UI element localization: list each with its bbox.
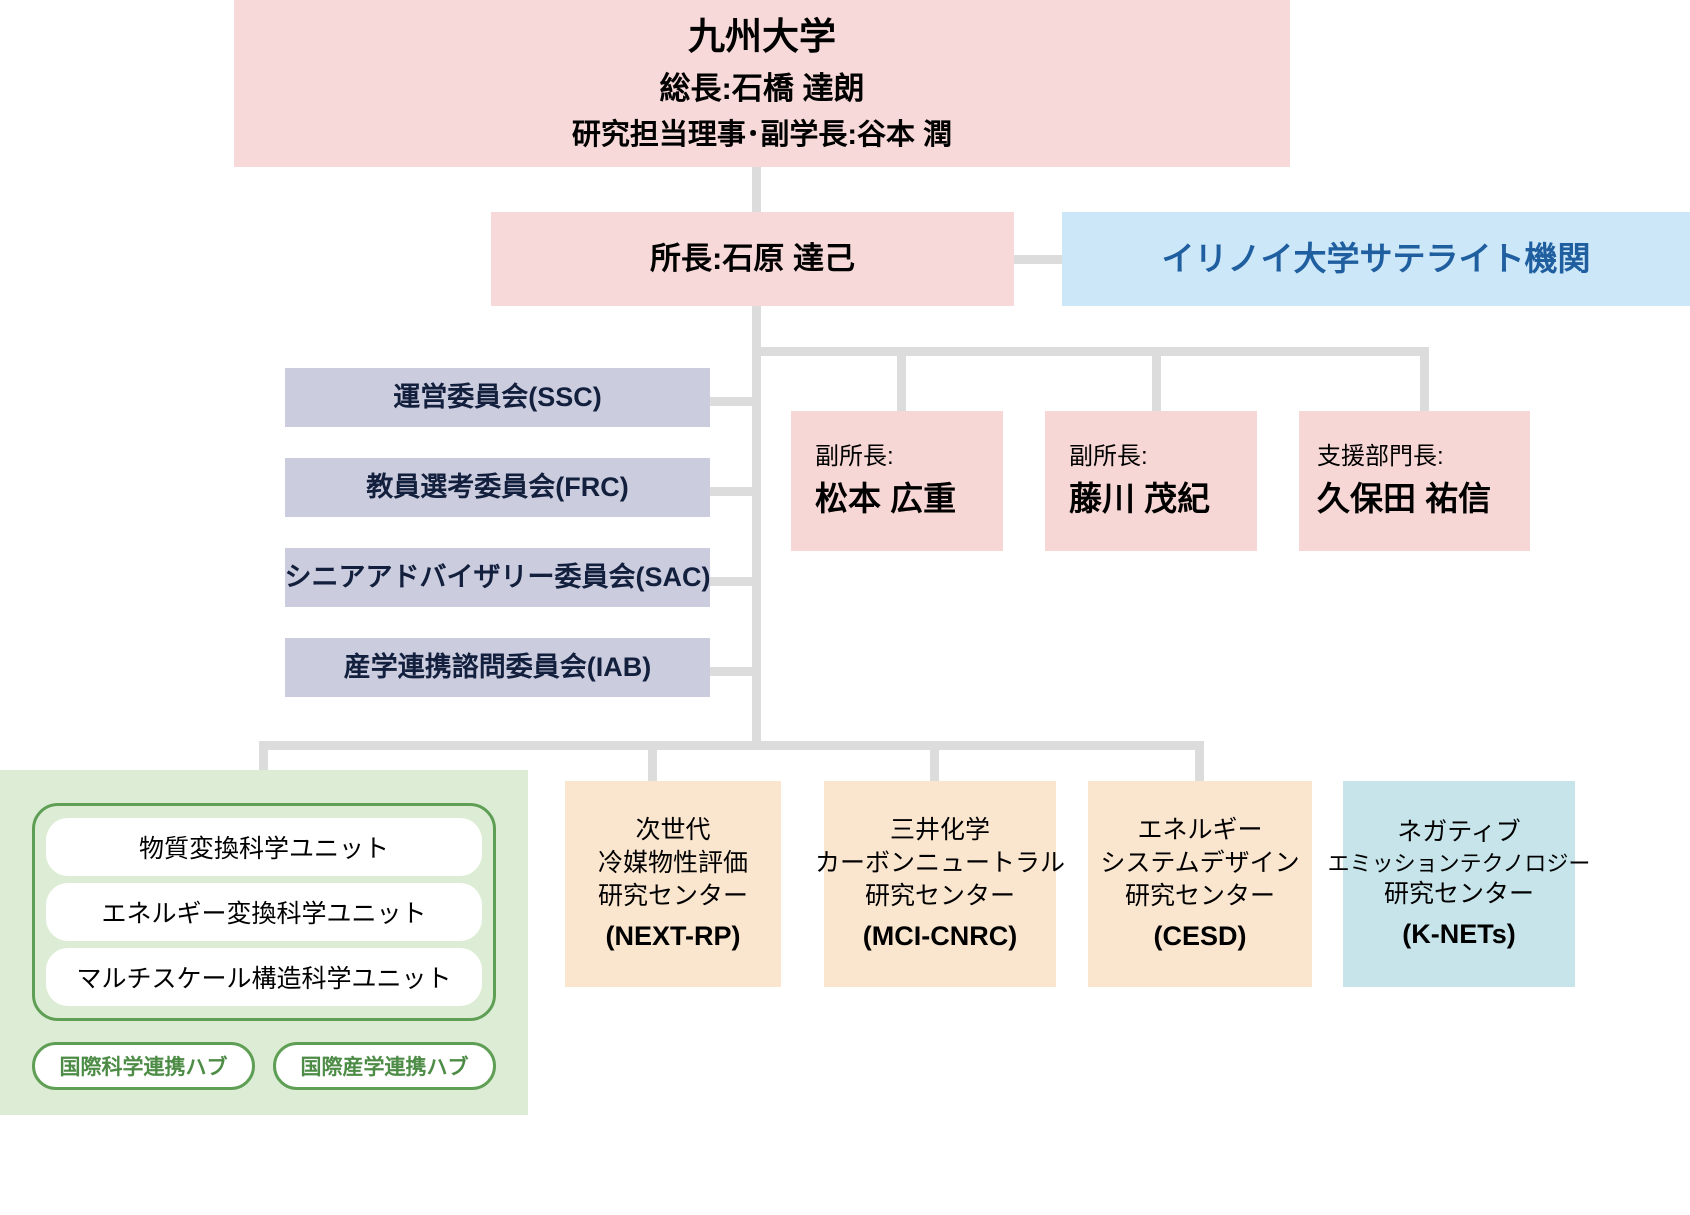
hub-pill-industry[interactable]: 国際産学連携ハブ [273,1042,496,1090]
org-chart: 九州大学 総長:石橋 達朗 研究担当理事･副学長:谷本 潤 所長:石原 達己 イ… [0,0,1690,1215]
connector-bottom-bus [259,741,1204,750]
center-1-line1: 次世代 [635,814,710,847]
center-3-line1: エネルギー [1137,814,1262,847]
officer-box-3[interactable]: 支援部門長: 久保田 祐信 [1299,411,1530,551]
connector-university-director [752,167,761,212]
research-center-next-rp[interactable]: 次世代 冷媒物性評価 研究センター (NEXT-RP) [565,781,781,987]
center-2-line1: 三井化学 [890,814,990,847]
center-3-line3: 研究センター [1125,880,1275,913]
committee-sac-label: シニアアドバイザリー委員会(SAC) [285,560,711,596]
center-4-line1: ネガティブ [1397,816,1521,849]
center-1-line3: 研究センター [598,880,748,913]
committee-sac[interactable]: シニアアドバイザリー委員会(SAC) [285,548,710,607]
university-box[interactable]: 九州大学 総長:石橋 達朗 研究担当理事･副学長:谷本 潤 [234,0,1290,167]
officer-3-role: 支援部門長: [1317,441,1444,473]
connector-officer-2 [1152,347,1161,412]
connector-officer-3 [1420,347,1429,412]
connector-committee-iab [710,667,756,676]
committee-ssc[interactable]: 運営委員会(SSC) [285,368,710,427]
officer-box-1[interactable]: 副所長: 松本 広重 [791,411,1003,551]
unit-pill-3[interactable]: マルチスケール構造科学ユニット [46,948,482,1006]
connector-officers-bus [757,347,1429,356]
committee-iab[interactable]: 産学連携諮問委員会(IAB) [285,638,710,697]
satellite-box[interactable]: イリノイ大学サテライト機関 [1062,212,1690,306]
connector-center-2 [930,741,939,781]
officer-2-name: 藤川 茂紀 [1069,477,1210,521]
officer-2-role: 副所長: [1069,441,1148,473]
connector-director-satellite [1014,255,1062,264]
center-4-line2: エミッションテクノロジー [1328,849,1591,878]
hub-2-label: 国際産学連携ハブ [301,1051,469,1081]
unit-2-label: エネルギー変換科学ユニット [101,894,426,930]
research-center-cesd[interactable]: エネルギー システムデザイン 研究センター (CESD) [1088,781,1312,987]
center-2-acronym: (MCI-CNRC) [863,919,1017,955]
center-3-line2: システムデザイン [1100,847,1299,880]
center-2-line3: 研究センター [865,880,1015,913]
unit-pill-1[interactable]: 物質変換科学ユニット [46,818,482,876]
officer-box-2[interactable]: 副所長: 藤川 茂紀 [1045,411,1257,551]
director-box[interactable]: 所長:石原 達己 [491,212,1014,306]
officer-1-role: 副所長: [815,441,894,473]
connector-center-1 [648,741,657,781]
university-vice-president: 研究担当理事･副学長:谷本 潤 [572,116,952,154]
university-name: 九州大学 [688,13,836,62]
connector-center-3 [1195,741,1204,781]
center-4-line3: 研究センター [1384,878,1534,911]
unit-3-label: マルチスケール構造科学ユニット [76,959,451,995]
center-3-acronym: (CESD) [1154,919,1247,955]
university-president: 総長:石橋 達朗 [660,69,865,110]
connector-committee-sac [710,577,756,586]
director-label: 所長:石原 達己 [650,239,855,280]
committee-frc-label: 教員選考委員会(FRC) [366,470,628,506]
connector-committee-ssc [710,397,756,406]
connector-committee-frc [710,487,756,496]
center-1-acronym: (NEXT-RP) [606,919,741,955]
officer-1-name: 松本 広重 [815,477,956,521]
center-1-line2: 冷媒物性評価 [598,847,748,880]
connector-director-trunk [752,306,761,746]
hub-1-label: 国際科学連携ハブ [60,1051,228,1081]
hub-pill-science[interactable]: 国際科学連携ハブ [32,1042,255,1090]
satellite-label: イリノイ大学サテライト機関 [1162,237,1591,281]
connector-officer-1 [897,347,906,412]
research-center-mci-cnrc[interactable]: 三井化学 カーボンニュートラル 研究センター (MCI-CNRC) [824,781,1056,987]
committee-iab-label: 産学連携諮問委員会(IAB) [344,650,651,686]
officer-3-name: 久保田 祐信 [1317,477,1491,521]
units-group: 物質変換科学ユニット エネルギー変換科学ユニット マルチスケール構造科学ユニット… [0,770,528,1115]
committee-ssc-label: 運営委員会(SSC) [393,380,602,416]
center-4-acronym: (K-NETs) [1402,917,1515,953]
unit-1-label: 物質変換科学ユニット [139,829,389,865]
committee-frc[interactable]: 教員選考委員会(FRC) [285,458,710,517]
hub-row: 国際科学連携ハブ 国際産学連携ハブ [32,1042,496,1090]
units-inner-frame: 物質変換科学ユニット エネルギー変換科学ユニット マルチスケール構造科学ユニット [32,803,496,1021]
center-2-line2: カーボンニュートラル [815,847,1065,880]
unit-pill-2[interactable]: エネルギー変換科学ユニット [46,883,482,941]
research-center-k-nets[interactable]: ネガティブ エミッションテクノロジー 研究センター (K-NETs) [1343,781,1575,987]
